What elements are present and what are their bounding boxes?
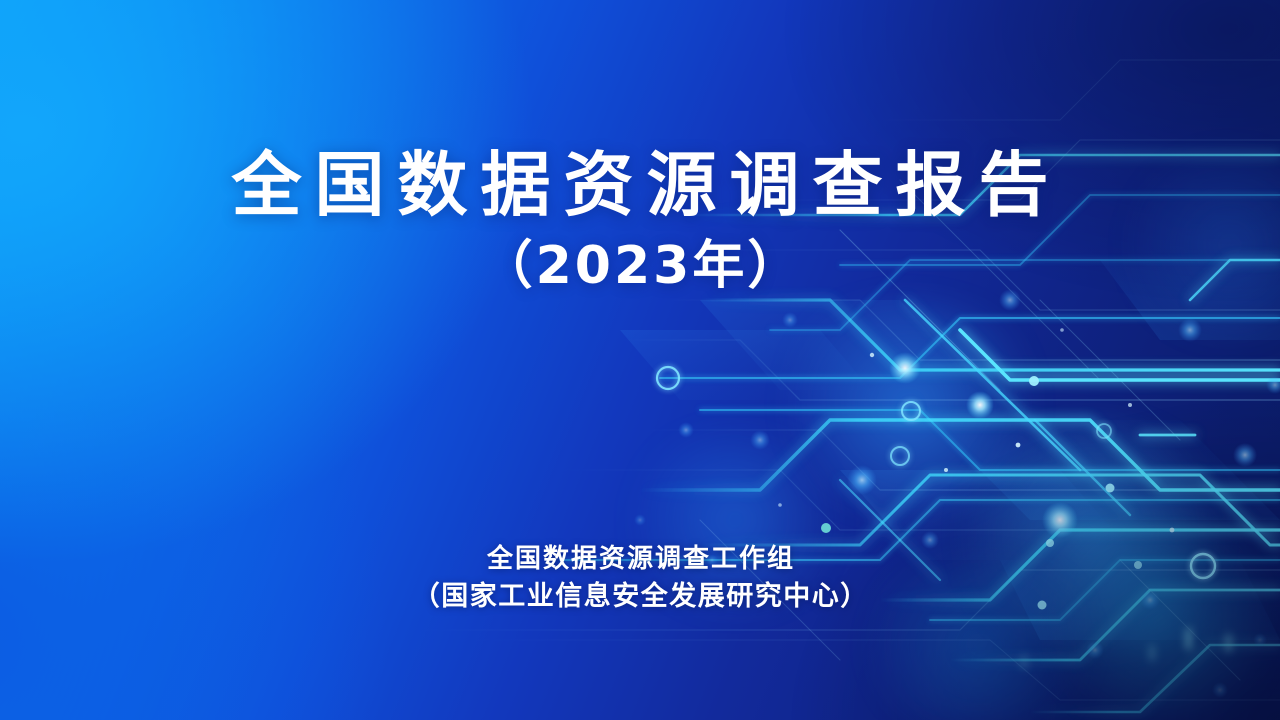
report-cover-slide: 全国数据资源调查报告 （2023年） 全国数据资源调查工作组 （国家工业信息安全… — [0, 0, 1280, 720]
page-subtitle: （2023年） — [0, 236, 1280, 297]
byline-organization: （国家工业信息安全发展研究中心） — [0, 578, 1280, 616]
byline-block: 全国数据资源调查工作组 （国家工业信息安全发展研究中心） — [0, 541, 1280, 616]
cover-content: 全国数据资源调查报告 （2023年） 全国数据资源调查工作组 （国家工业信息安全… — [0, 0, 1280, 720]
byline-working-group: 全国数据资源调查工作组 — [0, 541, 1280, 578]
page-title: 全国数据资源调查报告 — [0, 148, 1280, 224]
title-block: 全国数据资源调查报告 （2023年） — [0, 148, 1280, 297]
